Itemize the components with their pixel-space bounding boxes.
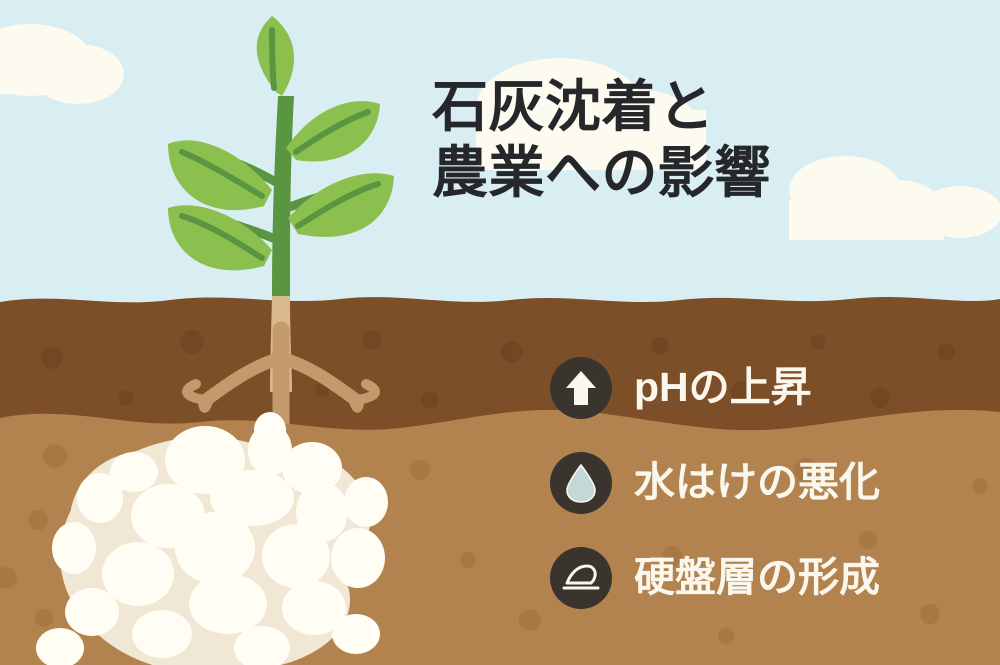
- title-line-2: 農業への影響: [432, 140, 952, 206]
- effect-label-ph-increase: pHの上昇: [634, 367, 812, 408]
- water-drop-icon: [550, 452, 612, 514]
- title-line-1: 石灰沈着と: [432, 74, 952, 140]
- effect-label-hardpan-formation: 硬盤層の形成: [634, 557, 880, 598]
- infographic-poster: 石灰沈着と 農業への影響 pHの上昇 水はけの悪化: [0, 0, 1000, 665]
- effect-label-drainage-decline: 水はけの悪化: [634, 462, 880, 503]
- poster-title: 石灰沈着と 農業への影響: [432, 74, 952, 206]
- effects-list: pHの上昇 水はけの悪化 硬盤層の形成: [550, 340, 980, 625]
- effect-item-ph-increase: pHの上昇: [550, 340, 980, 435]
- hardpan-layer-icon: [550, 547, 612, 609]
- up-arrow-icon: [550, 357, 612, 419]
- effect-item-drainage-decline: 水はけの悪化: [550, 435, 980, 530]
- effect-item-hardpan-formation: 硬盤層の形成: [550, 530, 980, 625]
